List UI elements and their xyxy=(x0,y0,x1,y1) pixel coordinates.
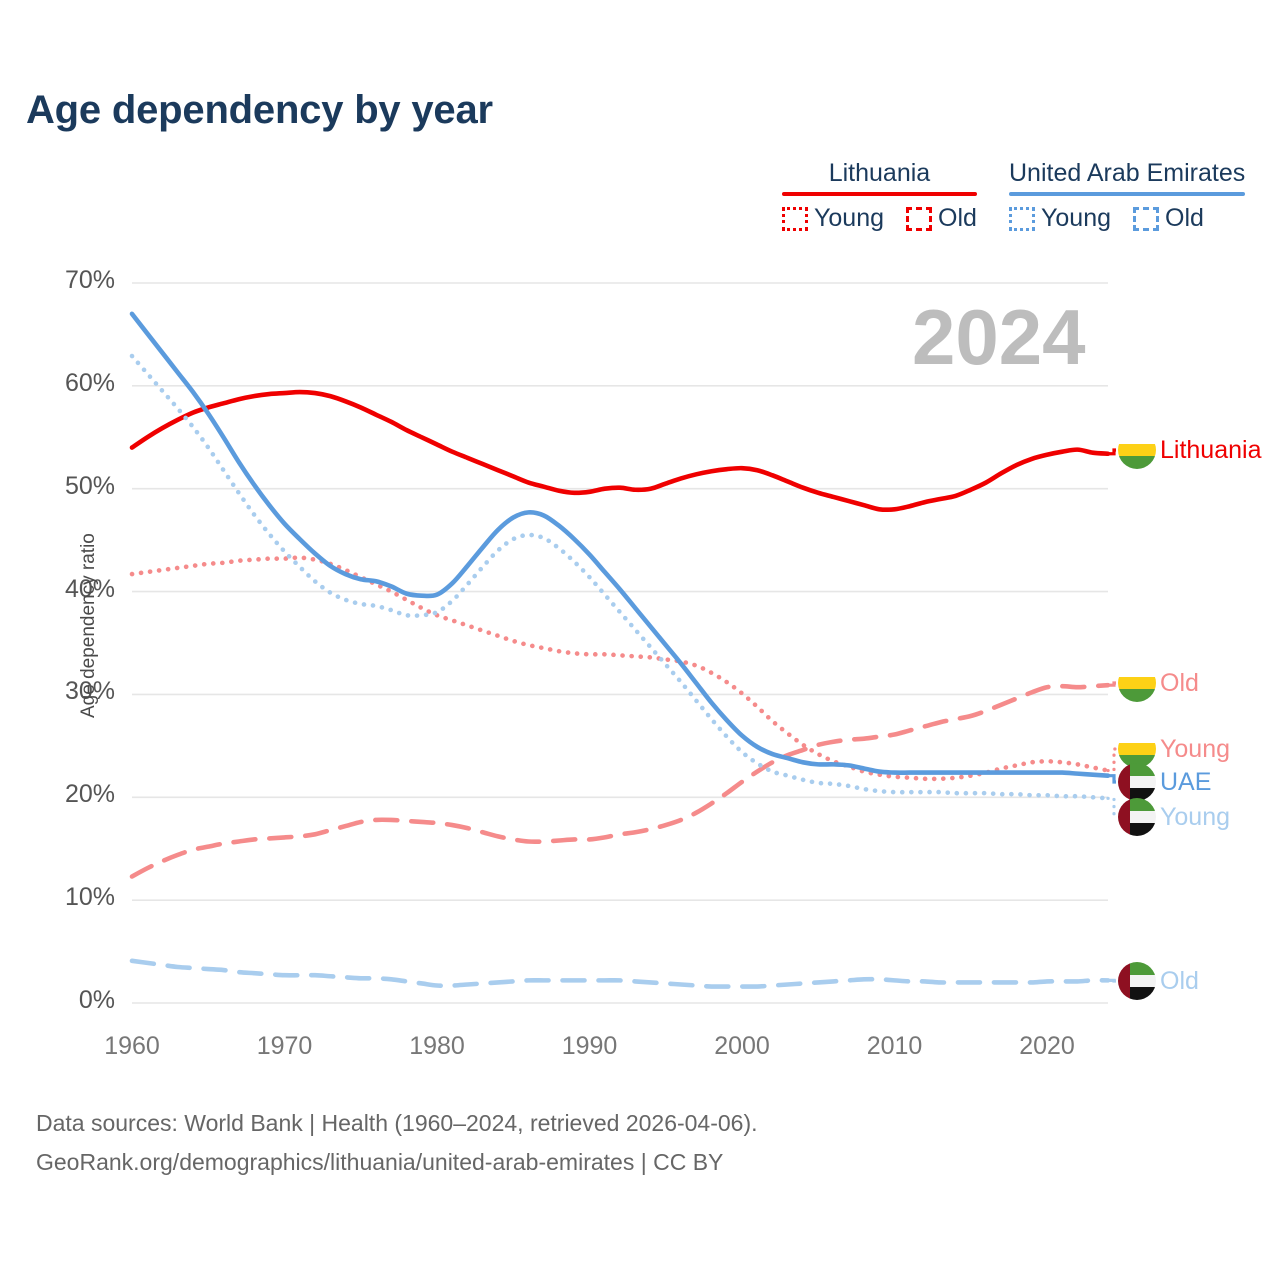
label-connector-uae-young xyxy=(1108,798,1116,817)
lithuania-flag-icon xyxy=(1118,431,1156,469)
end-label-uae-total[interactable]: UAE xyxy=(1118,763,1211,801)
end-label-lithuania-old[interactable]: Old xyxy=(1118,664,1199,702)
label-connector-lithuania-young xyxy=(1108,749,1116,771)
year-watermark: 2024 xyxy=(912,292,1086,383)
x-tick-label: 1980 xyxy=(377,1032,497,1061)
y-tick-label: 70% xyxy=(25,266,115,295)
end-label-text: Old xyxy=(1160,967,1199,996)
uae-flag-icon xyxy=(1118,763,1156,801)
x-tick-label: 1960 xyxy=(72,1032,192,1061)
y-tick-label: 0% xyxy=(25,986,115,1015)
line-chart xyxy=(0,0,1280,1280)
footer-data-sources: Data sources: World Bank | Health (1960–… xyxy=(36,1104,758,1143)
label-connector-uae-total xyxy=(1108,776,1116,782)
series-line-lithuania-old xyxy=(132,685,1108,876)
y-tick-label: 50% xyxy=(25,472,115,501)
end-label-text: Young xyxy=(1160,735,1230,764)
end-label-uae-young[interactable]: Young xyxy=(1118,798,1230,836)
uae-flag-icon xyxy=(1118,798,1156,836)
uae-flag-icon xyxy=(1118,962,1156,1000)
footer-attribution: GeoRank.org/demographics/lithuania/unite… xyxy=(36,1143,758,1182)
series-line-lithuania xyxy=(132,392,1108,510)
end-label-text: Old xyxy=(1160,669,1199,698)
end-label-lithuania-total[interactable]: Lithuania xyxy=(1118,431,1261,469)
y-tick-label: 40% xyxy=(25,575,115,604)
end-label-text: UAE xyxy=(1160,768,1211,797)
y-tick-label: 60% xyxy=(25,369,115,398)
end-label-text: Young xyxy=(1160,803,1230,832)
series-line-uae-young xyxy=(132,356,1108,798)
end-label-uae-old[interactable]: Old xyxy=(1118,962,1199,1000)
x-tick-label: 2020 xyxy=(987,1032,1107,1061)
y-tick-label: 30% xyxy=(25,677,115,706)
lithuania-flag-icon xyxy=(1118,664,1156,702)
x-tick-label: 2000 xyxy=(682,1032,802,1061)
chart-area: 0%10%20%30%40%50%60%70% 1960197019801990… xyxy=(0,0,1280,1280)
x-tick-label: 1990 xyxy=(530,1032,650,1061)
y-tick-label: 10% xyxy=(25,883,115,912)
x-tick-label: 1970 xyxy=(225,1032,345,1061)
label-connector-uae-old xyxy=(1108,980,1116,981)
y-tick-label: 20% xyxy=(25,780,115,809)
y-axis-label-text: Age dependency ratio xyxy=(78,533,100,718)
x-tick-label: 2010 xyxy=(835,1032,955,1061)
end-label-text: Lithuania xyxy=(1160,436,1261,465)
series-line-uae-old xyxy=(132,961,1108,987)
footer: Data sources: World Bank | Health (1960–… xyxy=(36,1104,758,1182)
